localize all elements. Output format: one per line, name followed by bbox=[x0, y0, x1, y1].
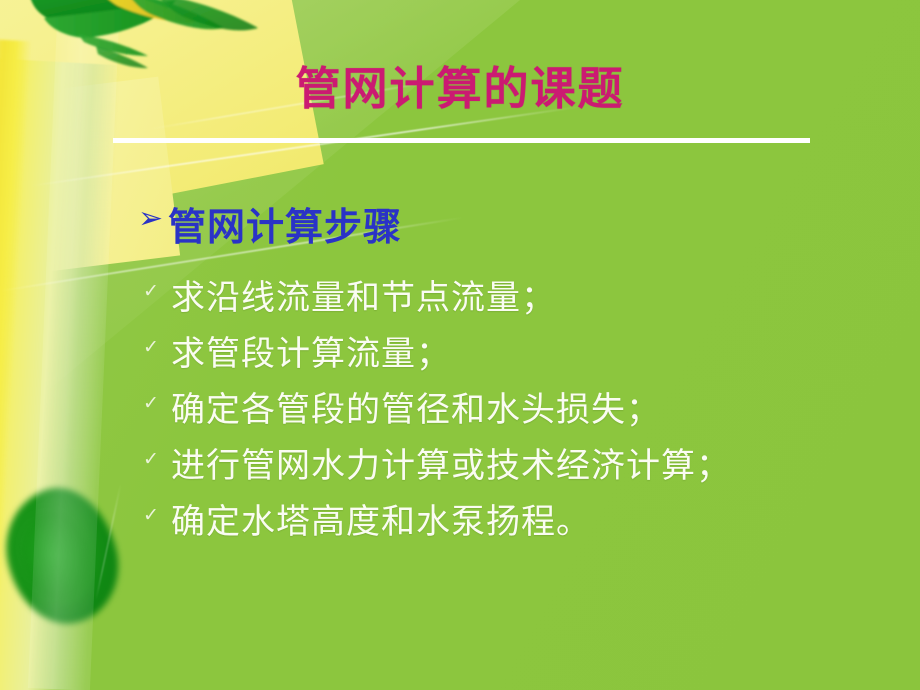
list-item-label: 确定各管段的管径和水头损失； bbox=[171, 382, 661, 431]
list-item-label: 求管段计算流量； bbox=[171, 326, 451, 375]
checkmark-icon: ✓ bbox=[143, 338, 159, 357]
page-title: 管网计算的课题 bbox=[295, 52, 624, 117]
list-item-label: 进行管网水力计算或技术经济计算； bbox=[171, 438, 731, 487]
list-item: ✓ 进行管网水力计算或技术经济计算； bbox=[0, 434, 920, 490]
checkmark-icon: ✓ bbox=[143, 450, 159, 469]
presentation-slide: 管网计算的课题 ➢ 管网计算步骤 ✓ 求沿线流量和节点流量； ✓ 求管段计算流量… bbox=[0, 0, 920, 690]
checkmark-icon: ✓ bbox=[143, 506, 159, 525]
list-item: ✓ 求管段计算流量； bbox=[0, 322, 920, 378]
list-item-label: 确定水塔高度和水泵扬程。 bbox=[171, 494, 591, 543]
title-block: 管网计算的课题 bbox=[0, 52, 920, 117]
checkmark-icon: ✓ bbox=[143, 394, 159, 413]
checkmark-icon: ✓ bbox=[143, 282, 159, 301]
bullet-level1-label: 管网计算步骤 bbox=[168, 196, 402, 251]
bullet-level1: ➢ 管网计算步骤 bbox=[0, 198, 920, 248]
sub-bullet-list: ✓ 求沿线流量和节点流量； ✓ 求管段计算流量； ✓ 确定各管段的管径和水头损失… bbox=[0, 266, 920, 546]
list-item-label: 求沿线流量和节点流量； bbox=[171, 270, 556, 319]
list-item: ✓ 求沿线流量和节点流量； bbox=[0, 266, 920, 322]
list-item: ✓ 确定各管段的管径和水头损失； bbox=[0, 378, 920, 434]
list-item: ✓ 确定水塔高度和水泵扬程。 bbox=[0, 490, 920, 546]
slide-body: ➢ 管网计算步骤 ✓ 求沿线流量和节点流量； ✓ 求管段计算流量； ✓ 确定各管… bbox=[0, 198, 920, 546]
triangle-arrow-right-icon: ➢ bbox=[138, 204, 163, 234]
title-divider bbox=[113, 138, 810, 143]
